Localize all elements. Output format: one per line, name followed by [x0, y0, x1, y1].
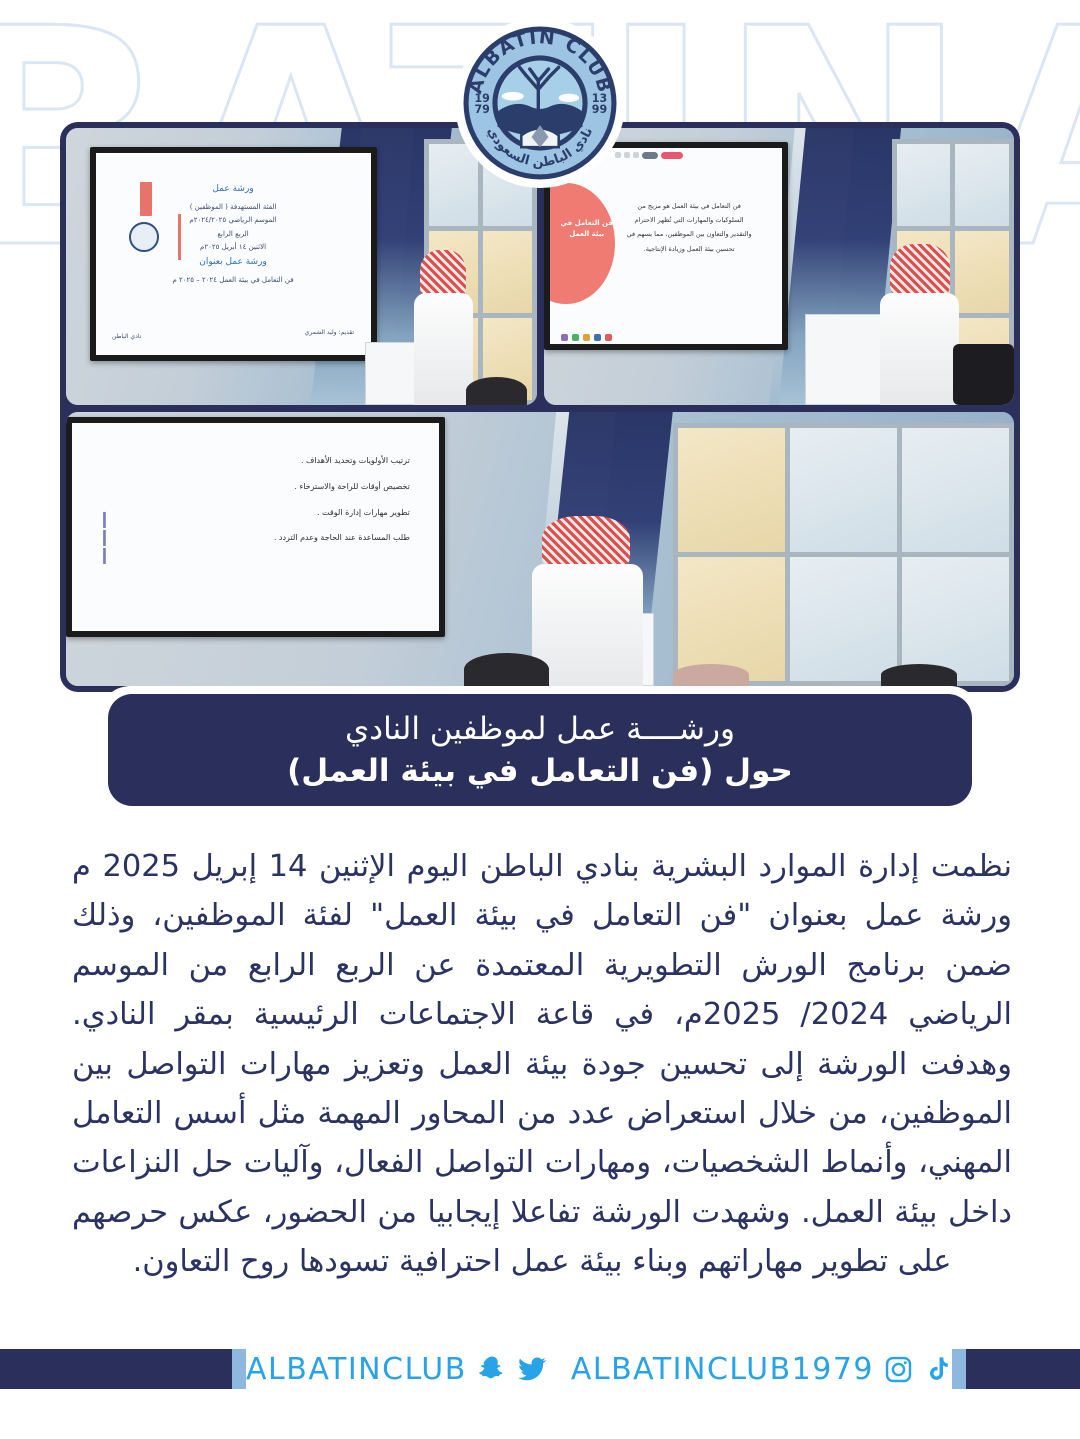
- title-banner: ورشــــة عمل لموظفين النادي حول (فن التع…: [108, 694, 972, 806]
- footer-right-accent: [952, 1349, 966, 1389]
- slide-bullet: ترتيب الأولويات وتحديد الأهداف .: [182, 448, 410, 474]
- audience-head: [466, 377, 527, 405]
- footer-bar: ALBATINCLUB ALBATINCLUB1979: [0, 1344, 1080, 1394]
- footer-left-accent: [232, 1349, 246, 1389]
- slide-club-badge: [129, 222, 159, 252]
- banner-line-1: ورشــــة عمل لموظفين النادي: [345, 711, 735, 747]
- footer-social-strip: ALBATINCLUB ALBATINCLUB1979: [246, 1352, 952, 1387]
- slide-content: ترتيب الأولويات وتحديد الأهداف . تخصيص أ…: [72, 423, 439, 630]
- slide-line6: ورشة عمل بعنوان: [118, 254, 349, 271]
- slide-red-bar: [140, 182, 152, 216]
- photo-3[interactable]: ترتيب الأولويات وتحديد الأهداف . تخصيص أ…: [66, 412, 1014, 686]
- svg-text:79: 79: [475, 103, 490, 116]
- twitter-icon[interactable]: [517, 1354, 547, 1384]
- screen-toolbar: [615, 151, 769, 160]
- handle-left[interactable]: ALBATINCLUB: [246, 1352, 467, 1387]
- slide-title: ورشة عمل: [118, 181, 349, 198]
- slide-bullet: طلب المساعدة عند الحاجة وعدم التردد .: [182, 525, 410, 551]
- slide-presenter: تقديم: وليد الشمري: [305, 327, 354, 338]
- window-panes: [673, 423, 1014, 686]
- photo-collage: ورشة عمل الفئة المستهدفة ( الموظفين ) ال…: [60, 122, 1020, 692]
- projector-screen-frame: ورشة عمل الفئة المستهدفة ( الموظفين ) ال…: [90, 147, 377, 360]
- person-thobe: [414, 293, 473, 405]
- projector-screen: ترتيب الأولويات وتحديد الأهداف . تخصيص أ…: [72, 423, 439, 630]
- slide-content: ورشة عمل الفئة المستهدفة ( الموظفين ) ال…: [96, 153, 371, 354]
- snapchat-icon[interactable]: [477, 1354, 507, 1384]
- banner-line-2: حول (فن التعامل في بيئة العمل): [287, 753, 793, 789]
- slide-body-text: فن التعامل في بيئة العمل هو مزيج من السل…: [624, 199, 754, 256]
- audience-head: [673, 664, 749, 686]
- instagram-icon[interactable]: [884, 1355, 913, 1384]
- slide-bullet: تخصيص أوقات للراحة والاسترخاء .: [182, 474, 410, 500]
- tiktok-icon[interactable]: [923, 1355, 952, 1384]
- projector-screen: ورشة عمل الفئة المستهدفة ( الموظفين ) ال…: [96, 153, 371, 354]
- person-thobe: [880, 293, 959, 405]
- audience-head: [464, 653, 549, 686]
- article-body: نظمت إدارة الموارد البشرية بنادي الباطن …: [72, 842, 1012, 1287]
- office-chair: [953, 344, 1014, 405]
- club-logo-svg: ALBATIN CLUB نادي الباطن السعودي 19 79 1…: [455, 18, 625, 188]
- audience-head: [881, 664, 957, 686]
- slide-line2: الفئة المستهدفة ( الموظفين ): [118, 201, 349, 214]
- slide-red-label: فن التعامل في بيئة العمل: [556, 218, 616, 239]
- whiteboard: [805, 314, 882, 405]
- projector-screen-frame: ترتيب الأولويات وتحديد الأهداف . تخصيص أ…: [66, 417, 445, 636]
- slide-line7: فن التعامل في بيئة العمل ٢٠٢٤ – ٢٠٢٥ م: [118, 274, 349, 287]
- footer-left-navy-block: [0, 1349, 232, 1389]
- slide-doodle: ❙❙❙: [98, 510, 111, 563]
- slide-club-name: نادي الباطن: [112, 331, 141, 342]
- slide-bullets: ترتيب الأولويات وتحديد الأهداف . تخصيص أ…: [182, 448, 410, 550]
- title-banner-wrapper: ورشــــة عمل لموظفين النادي حول (فن التع…: [100, 686, 980, 814]
- svg-text:99: 99: [592, 103, 607, 116]
- club-logo[interactable]: ALBATIN CLUB نادي الباطن السعودي 19 79 1…: [455, 18, 625, 188]
- presenter-person: [405, 250, 480, 405]
- slide-red-line: [178, 214, 181, 260]
- handle-right[interactable]: ALBATINCLUB1979: [571, 1352, 874, 1387]
- footer-right-navy-block: [966, 1349, 1080, 1389]
- slide-red-circle: [550, 183, 615, 304]
- slide-bullet: تطوير مهارات إدارة الوقت .: [182, 500, 410, 526]
- screen-bottom-bar: [561, 334, 612, 341]
